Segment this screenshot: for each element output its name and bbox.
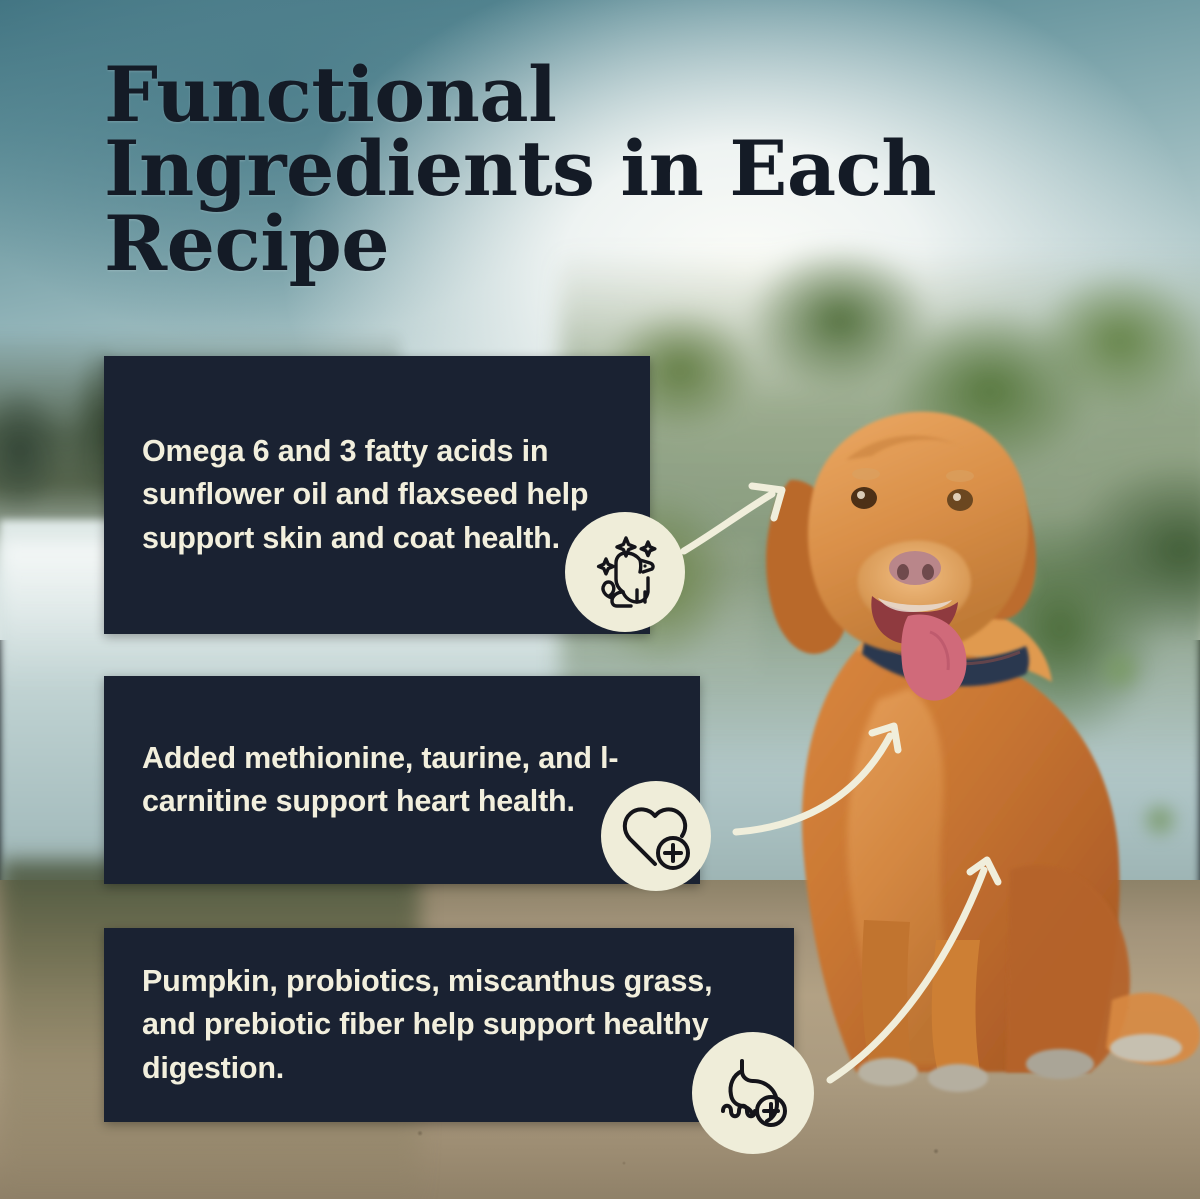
dog-sparkle-icon	[579, 526, 671, 618]
headline-line-3: Recipe	[104, 207, 1104, 281]
infographic-canvas: Functional Ingredients in Each Recipe Om…	[0, 0, 1200, 1199]
stomach-plus-icon	[709, 1049, 797, 1137]
dog-sparkle-icon-badge	[565, 512, 685, 632]
headline-line-2: Ingredients in Each	[104, 132, 1104, 206]
heart-plus-icon	[617, 797, 695, 875]
benefit-card-text: Pumpkin, probiotics, miscanthus grass, a…	[104, 960, 794, 1090]
dog-photo	[760, 400, 1200, 1100]
headline-line-1: Functional	[104, 58, 1104, 132]
heart-plus-icon-badge	[601, 781, 711, 891]
benefit-card-digestion: Pumpkin, probiotics, miscanthus grass, a…	[104, 928, 794, 1122]
benefit-card-text: Omega 6 and 3 fatty acids in sunflower o…	[104, 430, 650, 560]
page-title: Functional Ingredients in Each Recipe	[104, 58, 1104, 281]
stomach-plus-icon-badge	[692, 1032, 814, 1154]
